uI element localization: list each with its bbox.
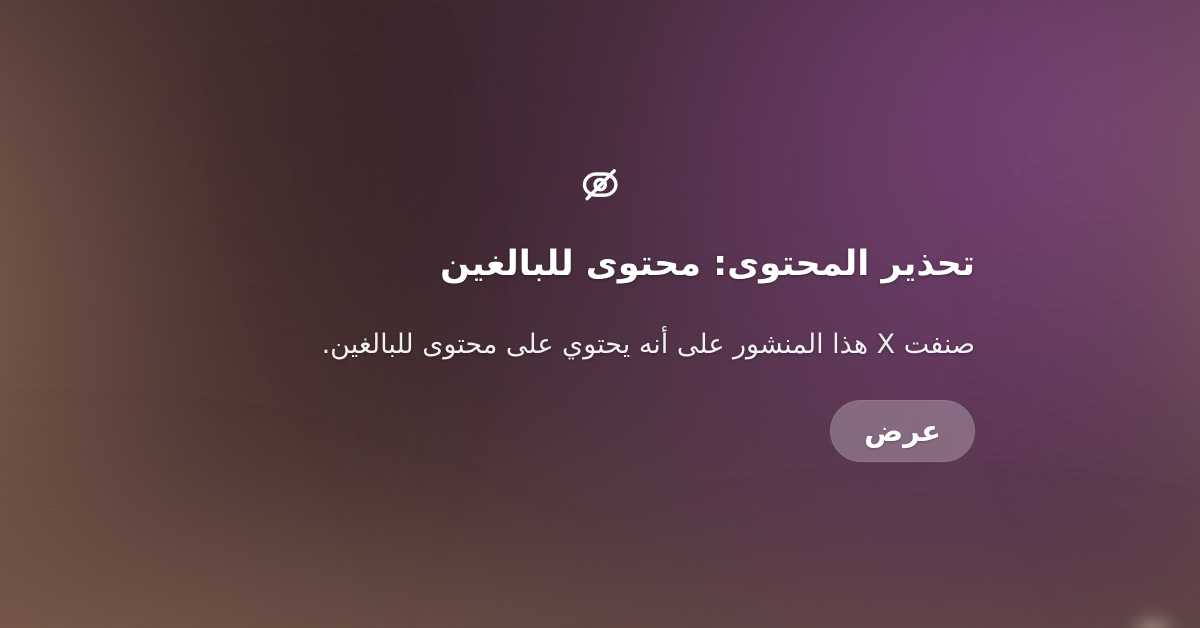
content-warning-title: تحذير المحتوى: محتوى للبالغين (225, 243, 975, 286)
content-warning-overlay: تحذير المحتوى: محتوى للبالغين صنفت X هذا… (0, 0, 1200, 628)
eye-off-icon (574, 158, 626, 210)
content-warning-description: صنفت X هذا المنشور على أنه يحتوي على محت… (225, 327, 975, 362)
content-warning-actions: عرض (225, 400, 975, 462)
content-warning-screen: تحذير المحتوى: محتوى للبالغين صنفت X هذا… (0, 0, 1200, 628)
view-button[interactable]: عرض (830, 400, 975, 462)
